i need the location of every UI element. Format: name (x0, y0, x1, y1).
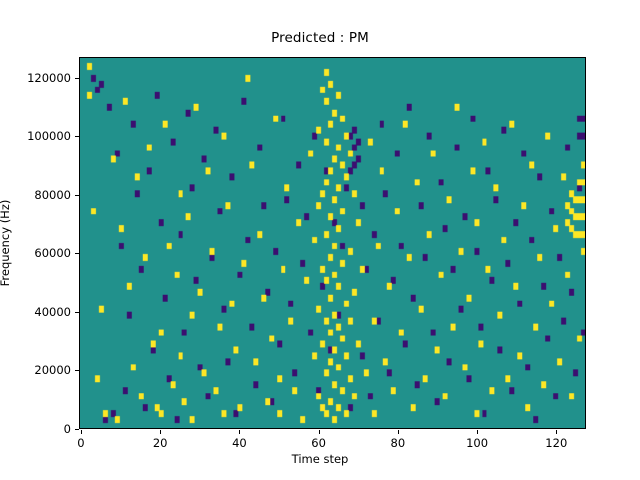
y-tick-label: 40000 (34, 305, 71, 319)
x-tick-mark (398, 430, 399, 434)
x-tick-mark (239, 430, 240, 434)
x-tick-label: 100 (466, 436, 488, 450)
y-tick-label: 60000 (34, 246, 71, 260)
y-tick-label: 80000 (34, 188, 71, 202)
x-tick-mark (556, 430, 557, 434)
x-tick-label: 20 (153, 436, 168, 450)
y-axis-label: Frequency (Hz) (0, 200, 12, 287)
y-tick-label: 120000 (27, 71, 71, 85)
x-tick-label: 0 (77, 436, 84, 450)
heatmap-image (80, 58, 585, 428)
x-tick-mark (81, 430, 82, 434)
x-axis-label: Time step (0, 452, 640, 466)
y-tick-mark (75, 136, 79, 137)
x-tick-label: 120 (545, 436, 567, 450)
x-tick-label: 60 (311, 436, 326, 450)
x-tick-label: 40 (232, 436, 247, 450)
y-tick-label: 100000 (27, 129, 71, 143)
y-tick-mark (75, 253, 79, 254)
figure-canvas: Predicted : PM 0200004000060000800001000… (0, 0, 640, 480)
y-tick-mark (75, 78, 79, 79)
x-tick-label: 80 (391, 436, 406, 450)
heatmap-axes (79, 57, 586, 429)
x-tick-mark (477, 430, 478, 434)
y-tick-mark (75, 312, 79, 313)
chart-title: Predicted : PM (0, 30, 640, 46)
x-tick-mark (319, 430, 320, 434)
y-tick-mark (75, 370, 79, 371)
x-tick-mark (160, 430, 161, 434)
y-tick-mark (75, 195, 79, 196)
y-tick-label: 0 (64, 422, 71, 436)
y-tick-label: 20000 (34, 363, 71, 377)
